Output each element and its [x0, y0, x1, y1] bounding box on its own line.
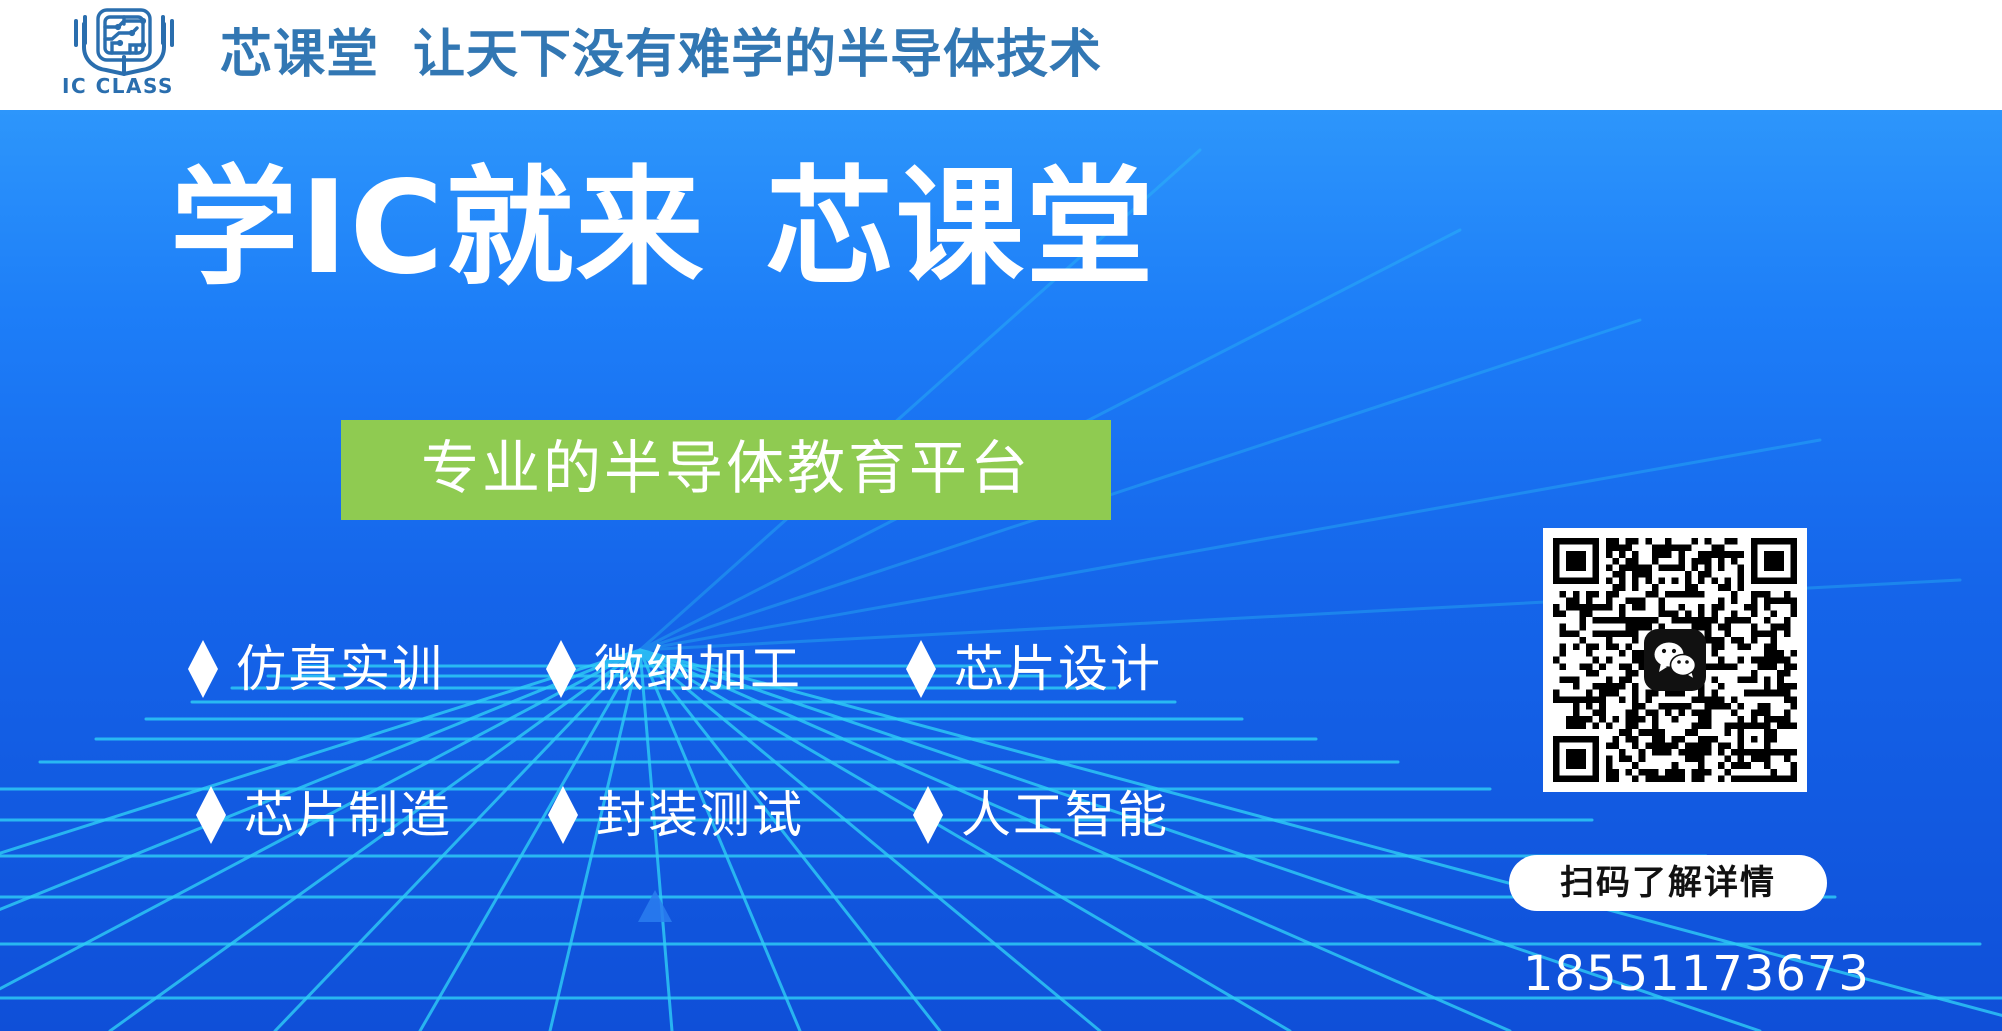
feature-item-chip-design[interactable]: 芯片设计	[906, 640, 1236, 698]
header-slogan: 让天下没有难学的半导体技术	[413, 25, 1102, 85]
hero-panel: 学IC就来芯课堂 专业的半导体教育平台 仿真实训 微纳加工 芯片设计	[0, 110, 2002, 1031]
feature-row: 仿真实训 微纳加工 芯片设计	[188, 640, 1248, 698]
hero-headline-part1: 学IC就来	[170, 154, 706, 303]
diamond-icon	[196, 786, 226, 844]
feature-label: 芯片制造	[244, 790, 452, 840]
feature-item-chip-manufacturing[interactable]: 芯片制造	[196, 786, 548, 844]
logo-wordmark: IC CLASS	[62, 76, 174, 96]
diamond-icon	[548, 786, 578, 844]
feature-list: 仿真实训 微纳加工 芯片设计 芯片制造 封装测试	[188, 640, 1248, 844]
diamond-icon	[913, 786, 943, 844]
ic-class-chip-book-logo-icon	[62, 7, 174, 79]
hero-headline: 学IC就来芯课堂	[170, 165, 1156, 293]
tagline-banner: 专业的半导体教育平台	[341, 420, 1111, 520]
feature-label: 芯片设计	[954, 644, 1162, 694]
tagline-banner-text: 专业的半导体教育平台	[421, 439, 1031, 497]
qr-code-card[interactable]	[1543, 528, 1807, 792]
scan-for-details-button[interactable]: 扫码了解详情	[1509, 855, 1827, 911]
header-title: 芯课堂让天下没有难学的半导体技术	[220, 29, 1102, 81]
feature-item-packaging-testing[interactable]: 封装测试	[548, 786, 913, 844]
wechat-icon	[1644, 629, 1706, 691]
poster-root: IC CLASS 芯课堂让天下没有难学的半导体技术	[0, 0, 2002, 1031]
feature-item-micro-nano-fabrication[interactable]: 微纳加工	[546, 640, 906, 698]
feature-item-artificial-intelligence[interactable]: 人工智能	[913, 786, 1243, 844]
scan-for-details-label: 扫码了解详情	[1560, 866, 1776, 900]
feature-row: 芯片制造 封装测试 人工智能	[188, 786, 1248, 844]
diamond-icon	[188, 640, 218, 698]
feature-item-simulation-training[interactable]: 仿真实训	[188, 640, 546, 698]
phone-number[interactable]: 18551173673	[1523, 950, 1823, 998]
feature-label: 封装测试	[596, 790, 804, 840]
accent-triangle-icon	[638, 890, 672, 922]
diamond-icon	[546, 640, 576, 698]
diamond-icon	[906, 640, 936, 698]
feature-label: 仿真实训	[236, 644, 444, 694]
site-header: IC CLASS 芯课堂让天下没有难学的半导体技术	[0, 0, 2002, 110]
hero-headline-part2: 芯课堂	[766, 154, 1156, 303]
header-brand: 芯课堂	[220, 25, 379, 85]
brand-logo[interactable]: IC CLASS	[52, 7, 184, 103]
feature-label: 人工智能	[961, 790, 1169, 840]
feature-label: 微纳加工	[594, 644, 802, 694]
qr-code-inner	[1553, 538, 1797, 782]
